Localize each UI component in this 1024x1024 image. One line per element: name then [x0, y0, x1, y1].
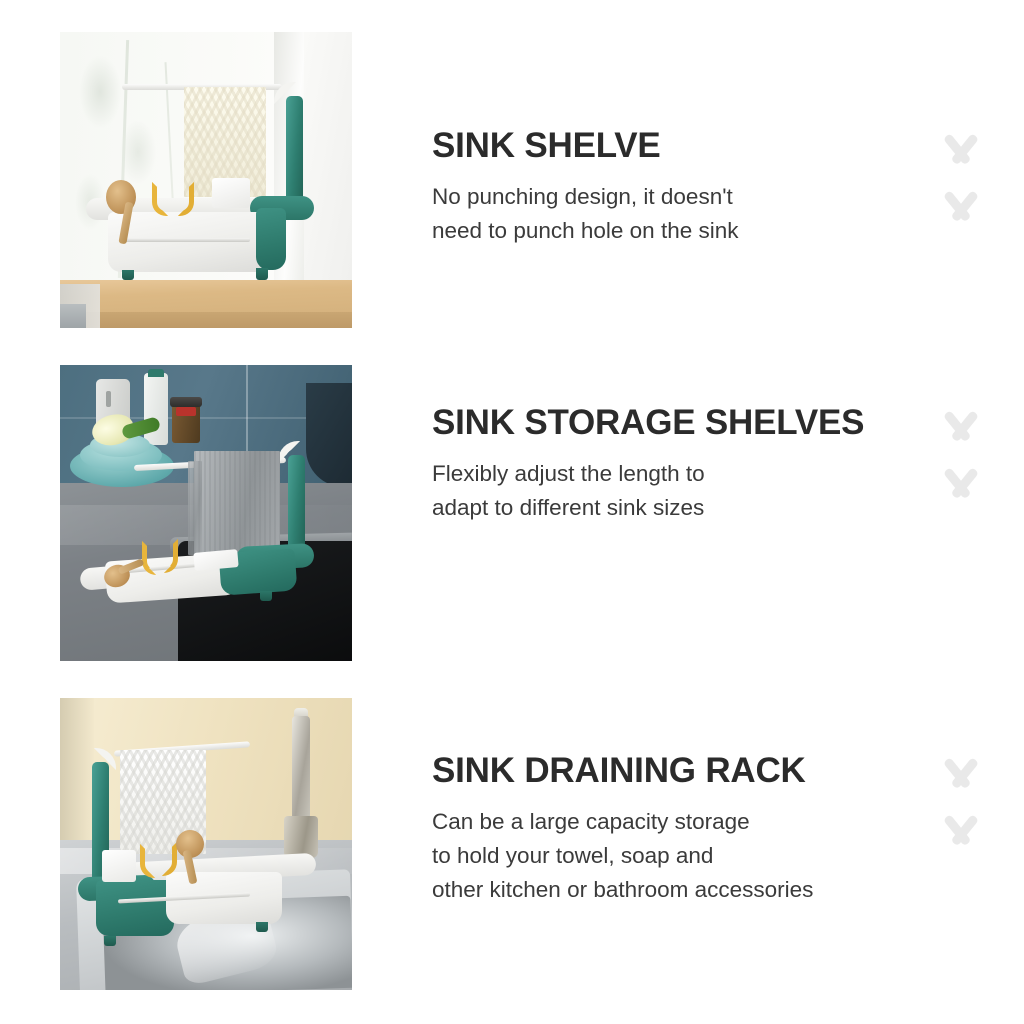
photo1-foot-right	[256, 268, 268, 280]
photo1-wire-rail	[120, 238, 250, 242]
photo3-sponge	[102, 850, 136, 882]
photo3-wall-shadow	[60, 698, 94, 846]
feature-1-text: SINK SHELVE No punching design, it doesn…	[432, 128, 922, 248]
feature-block-sink-shelve: SINK SHELVE No punching design, it doesn…	[0, 32, 1024, 330]
feature-2-text: SINK STORAGE SHELVES Flexibly adjust the…	[432, 405, 922, 525]
chevron-down-icon[interactable]	[932, 189, 990, 222]
photo2-gray-towel	[194, 451, 280, 559]
photo2-canister-slot	[106, 391, 111, 407]
photo2-jar-label	[176, 407, 196, 416]
photo2-gray-towel-back	[188, 461, 202, 555]
photo3-chrome-faucet	[292, 716, 310, 828]
photo2-bottle-cap	[148, 369, 164, 377]
photo1-yellow-hook-left	[152, 182, 168, 216]
chevron-down-icon[interactable]	[932, 756, 990, 789]
photo3-faucet-head	[284, 816, 318, 858]
feature-block-sink-draining-rack: SINK DRAINING RACK Can be a large capaci…	[0, 698, 1024, 990]
feature-1-chevron-group	[932, 132, 998, 246]
feature-2-desc-line-2: adapt to different sink sizes	[432, 491, 922, 525]
photo1-wall	[304, 32, 352, 284]
chevron-down-icon[interactable]	[932, 466, 990, 499]
photo1-windowsill-edge	[60, 312, 352, 328]
feature-2-description: Flexibly adjust the length to adapt to d…	[432, 457, 922, 525]
photo2-foot-right	[260, 591, 272, 601]
feature-3-chevron-group	[932, 756, 998, 870]
photo1-sponge	[212, 178, 250, 208]
feature-1-desc-line-1: No punching design, it doesn't	[432, 180, 922, 214]
chevron-down-icon[interactable]	[932, 132, 990, 165]
feature-2-title: SINK STORAGE SHELVES	[432, 405, 922, 440]
photo3-green-basin	[96, 880, 174, 936]
photo2-milk-bottle	[144, 373, 168, 445]
photo2-dark-corner	[306, 383, 352, 487]
feature-3-desc-line-3: other kitchen or bathroom accessories	[432, 873, 922, 907]
product-photo-1[interactable]	[60, 32, 352, 328]
product-infographic: SINK SHELVE No punching design, it doesn…	[0, 0, 1024, 1024]
photo2-green-post	[288, 455, 305, 549]
feature-block-sink-storage-shelves: SINK STORAGE SHELVES Flexibly adjust the…	[0, 365, 1024, 663]
feature-1-title: SINK SHELVE	[432, 128, 922, 163]
feature-2-chevron-group	[932, 409, 998, 523]
product-photo-2[interactable]	[60, 365, 352, 661]
feature-3-title: SINK DRAINING RACK	[432, 753, 922, 788]
chevron-down-icon[interactable]	[932, 813, 990, 846]
feature-2-desc-line-1: Flexibly adjust the length to	[432, 457, 922, 491]
feature-3-description: Can be a large capacity storage to hold …	[432, 805, 922, 908]
photo3-foot-right	[256, 922, 268, 932]
photo1-counter-edge	[60, 304, 86, 328]
chevron-down-icon[interactable]	[932, 409, 990, 442]
photo3-yellow-hook-left	[140, 844, 155, 878]
photo2-jar-lid	[170, 397, 202, 407]
photo1-green-basin-end	[256, 208, 286, 270]
feature-3-desc-line-1: Can be a large capacity storage	[432, 805, 922, 839]
feature-1-description: No punching design, it doesn't need to p…	[432, 180, 922, 248]
product-photo-3[interactable]	[60, 698, 352, 990]
feature-3-text: SINK DRAINING RACK Can be a large capaci…	[432, 753, 922, 908]
feature-1-desc-line-2: need to punch hole on the sink	[432, 214, 922, 248]
photo1-white-basin	[108, 212, 268, 272]
photo1-foot-left	[122, 270, 134, 280]
photo2-sponge	[193, 549, 238, 571]
feature-3-desc-line-2: to hold your towel, soap and	[432, 839, 922, 873]
photo3-foot-left	[104, 936, 116, 946]
photo1-green-post	[286, 96, 303, 208]
